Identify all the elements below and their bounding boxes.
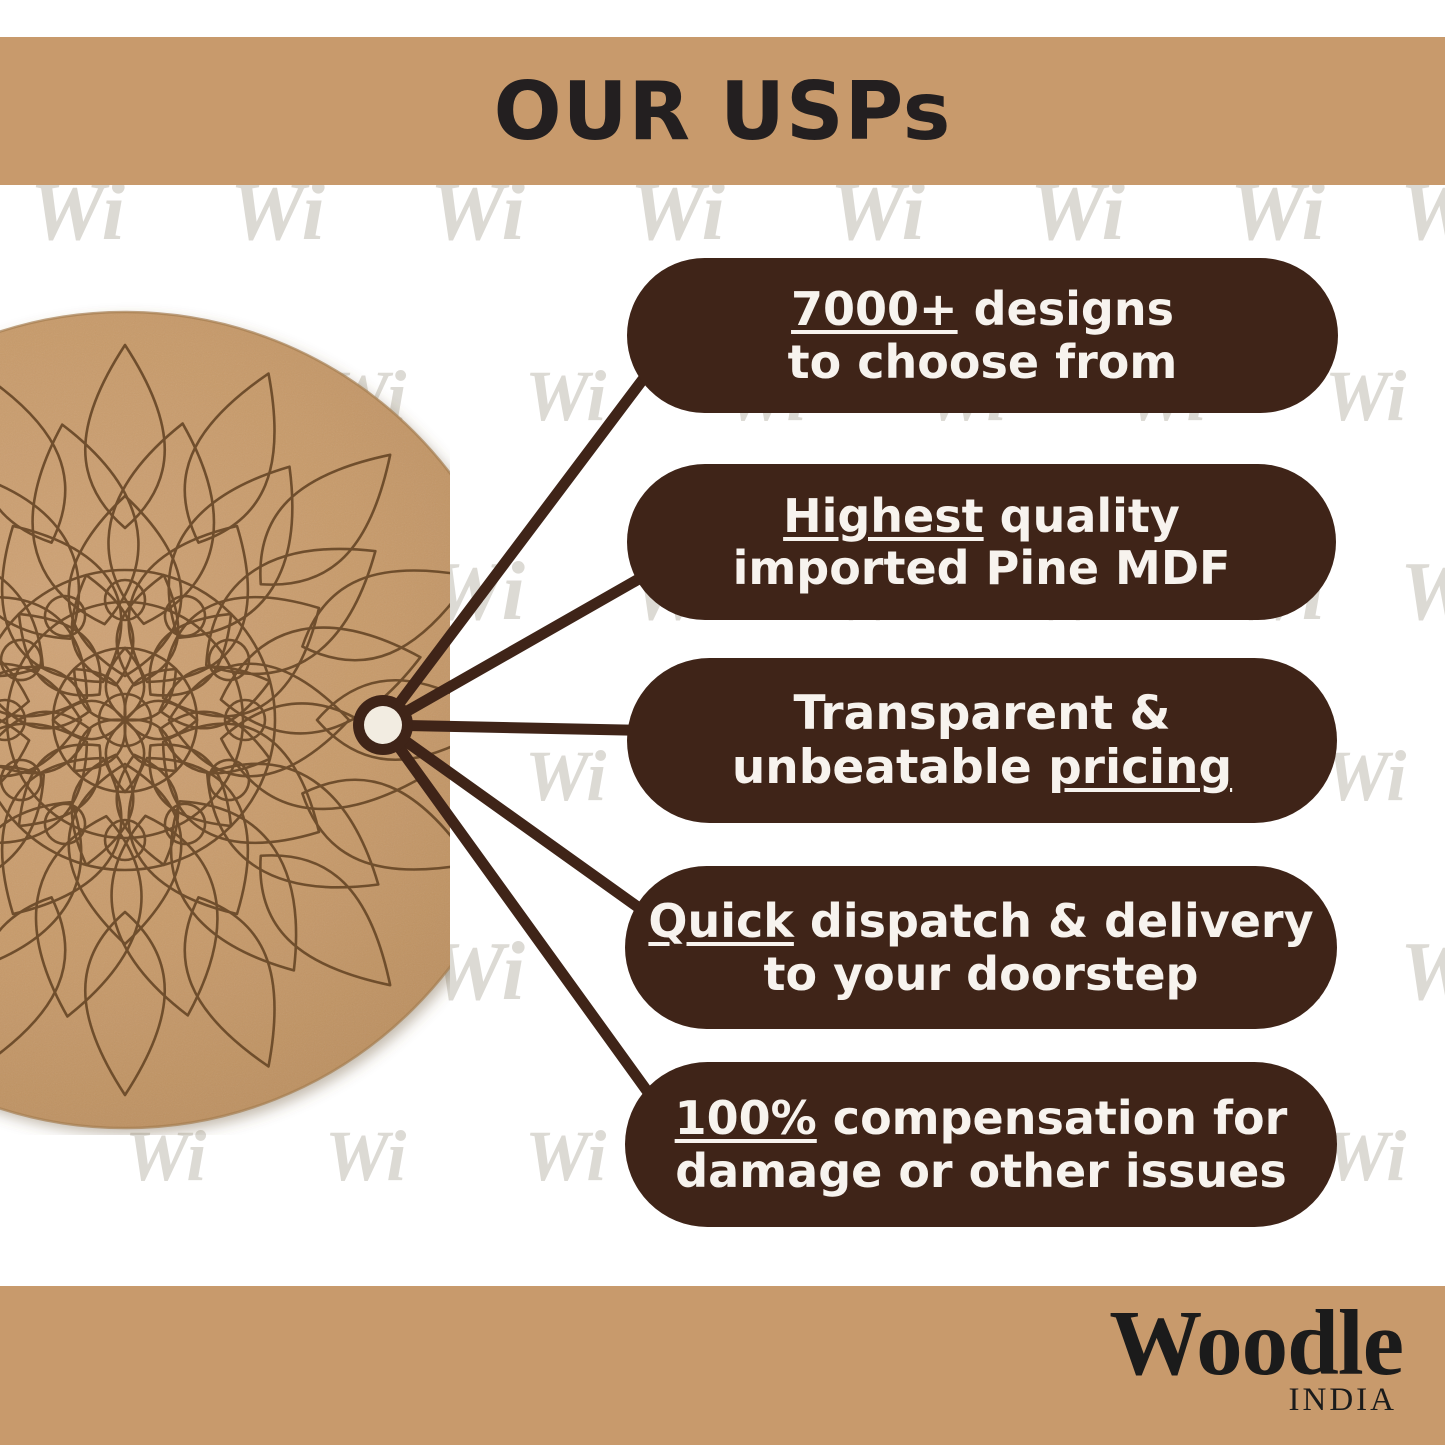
usp-highlight: Quick bbox=[648, 894, 793, 948]
usp-line-2: unbeatable pricing bbox=[732, 741, 1232, 795]
usp-line-1: Quick dispatch & delivery bbox=[648, 895, 1313, 947]
watermark-wi: Wi bbox=[1325, 360, 1406, 432]
usp-card-designs[interactable]: 7000+ designs to choose from bbox=[627, 258, 1338, 413]
mandala-mdf-disc bbox=[0, 300, 450, 1135]
usp-card-dispatch[interactable]: Quick dispatch & delivery to your doorst… bbox=[625, 866, 1337, 1029]
page-title: OUR USPs bbox=[0, 37, 1445, 185]
watermark-wi: Wi bbox=[1325, 740, 1406, 812]
watermark-wi: Wi bbox=[1400, 550, 1445, 634]
watermark-wi: Wi bbox=[525, 740, 606, 812]
watermark-wi: Wi bbox=[525, 1120, 606, 1192]
usp-highlight: 100% bbox=[675, 1091, 817, 1145]
usp-line-1: 7000+ designs bbox=[791, 283, 1174, 335]
usp-highlight: 7000+ bbox=[791, 282, 958, 336]
usp-line-2: to your doorstep bbox=[764, 948, 1199, 1000]
usp-line-1: 100% compensation for bbox=[675, 1092, 1288, 1144]
usp-line-1: Transparent & bbox=[794, 687, 1171, 741]
usp-card-pricing[interactable]: Transparent & unbeatable pricing bbox=[627, 658, 1337, 823]
usp-highlight: pricing bbox=[1048, 740, 1232, 795]
watermark-wi: Wi bbox=[525, 360, 606, 432]
usp-line-2: imported Pine MDF bbox=[733, 542, 1231, 594]
usp-highlight: Highest bbox=[783, 489, 984, 543]
brand-logo: Woodle INDIA bbox=[1109, 1300, 1403, 1419]
usp-line-2: to choose from bbox=[788, 336, 1178, 388]
brand-logo-word: Woodle bbox=[1109, 1300, 1403, 1388]
infographic-canvas: WiWiWiWiWiWiWiWiWiWiWiWiWiWiWiWiWiWiWiWi… bbox=[0, 0, 1445, 1445]
watermark-wi: Wi bbox=[1325, 1120, 1406, 1192]
usp-line-1: Highest quality bbox=[783, 490, 1180, 542]
usp-line-2: damage or other issues bbox=[675, 1145, 1286, 1197]
watermark-wi: Wi bbox=[1400, 930, 1445, 1014]
usp-card-quality[interactable]: Highest quality imported Pine MDF bbox=[627, 464, 1336, 620]
usp-card-compensation[interactable]: 100% compensation for damage or other is… bbox=[625, 1062, 1337, 1227]
